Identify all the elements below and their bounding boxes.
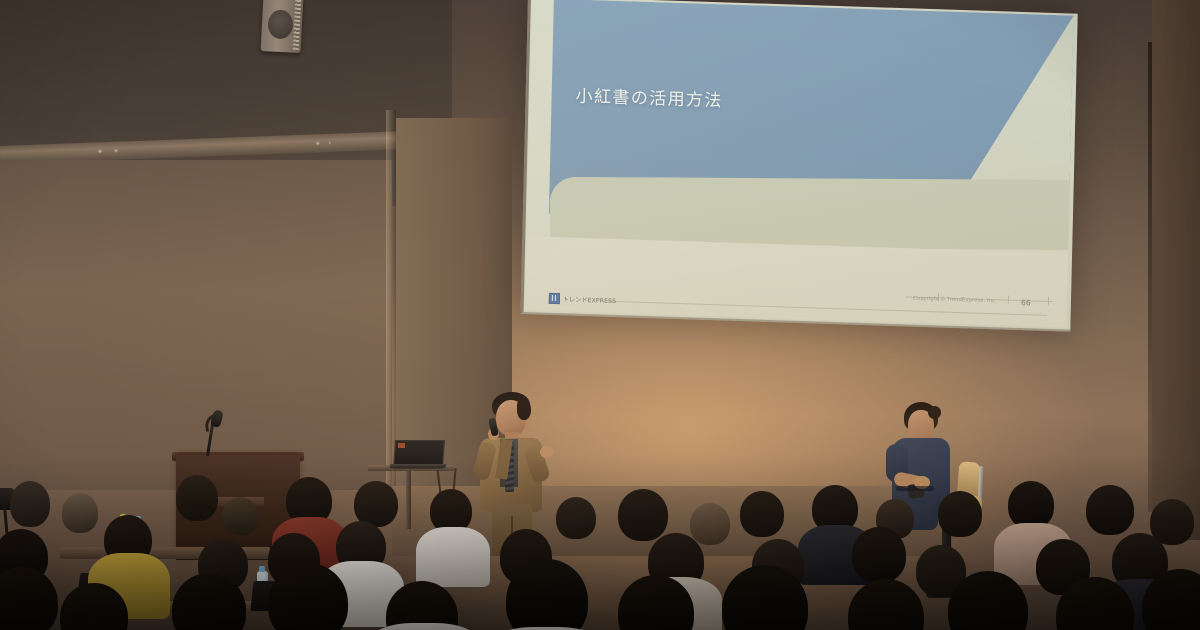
audience-head [618,489,668,541]
seated-audience [0,455,1200,630]
presenter-hair-side [517,398,531,420]
loudspeaker-icon [261,0,304,53]
audience-head [1008,481,1054,529]
audience-head [690,503,730,545]
audience-head [176,475,218,521]
screen-frame [521,0,1078,332]
loudspeaker-grill [293,0,302,50]
audience-head [556,497,596,539]
right-wall-seam [1148,42,1152,512]
moderator-hair-bun [928,406,941,419]
projection-screen: 小紅書の活用方法 Copyright © TrendExpress, Inc. … [521,0,1078,332]
audience-body [416,527,490,587]
audience-head [10,481,50,527]
audience-head [852,527,906,583]
audience-head [506,559,588,630]
audience-head [62,493,98,533]
lower-left-wall [0,160,392,490]
laptop-badge-icon [398,443,405,448]
audience-head [848,579,924,630]
audience-head [938,491,982,537]
audience-head [0,567,58,630]
audience-head [1086,485,1134,535]
audience-head [222,497,258,535]
audience-head [740,491,784,537]
presentation-photo: 小紅書の活用方法 Copyright © TrendExpress, Inc. … [0,0,1200,630]
loudspeaker-cone [267,9,293,39]
